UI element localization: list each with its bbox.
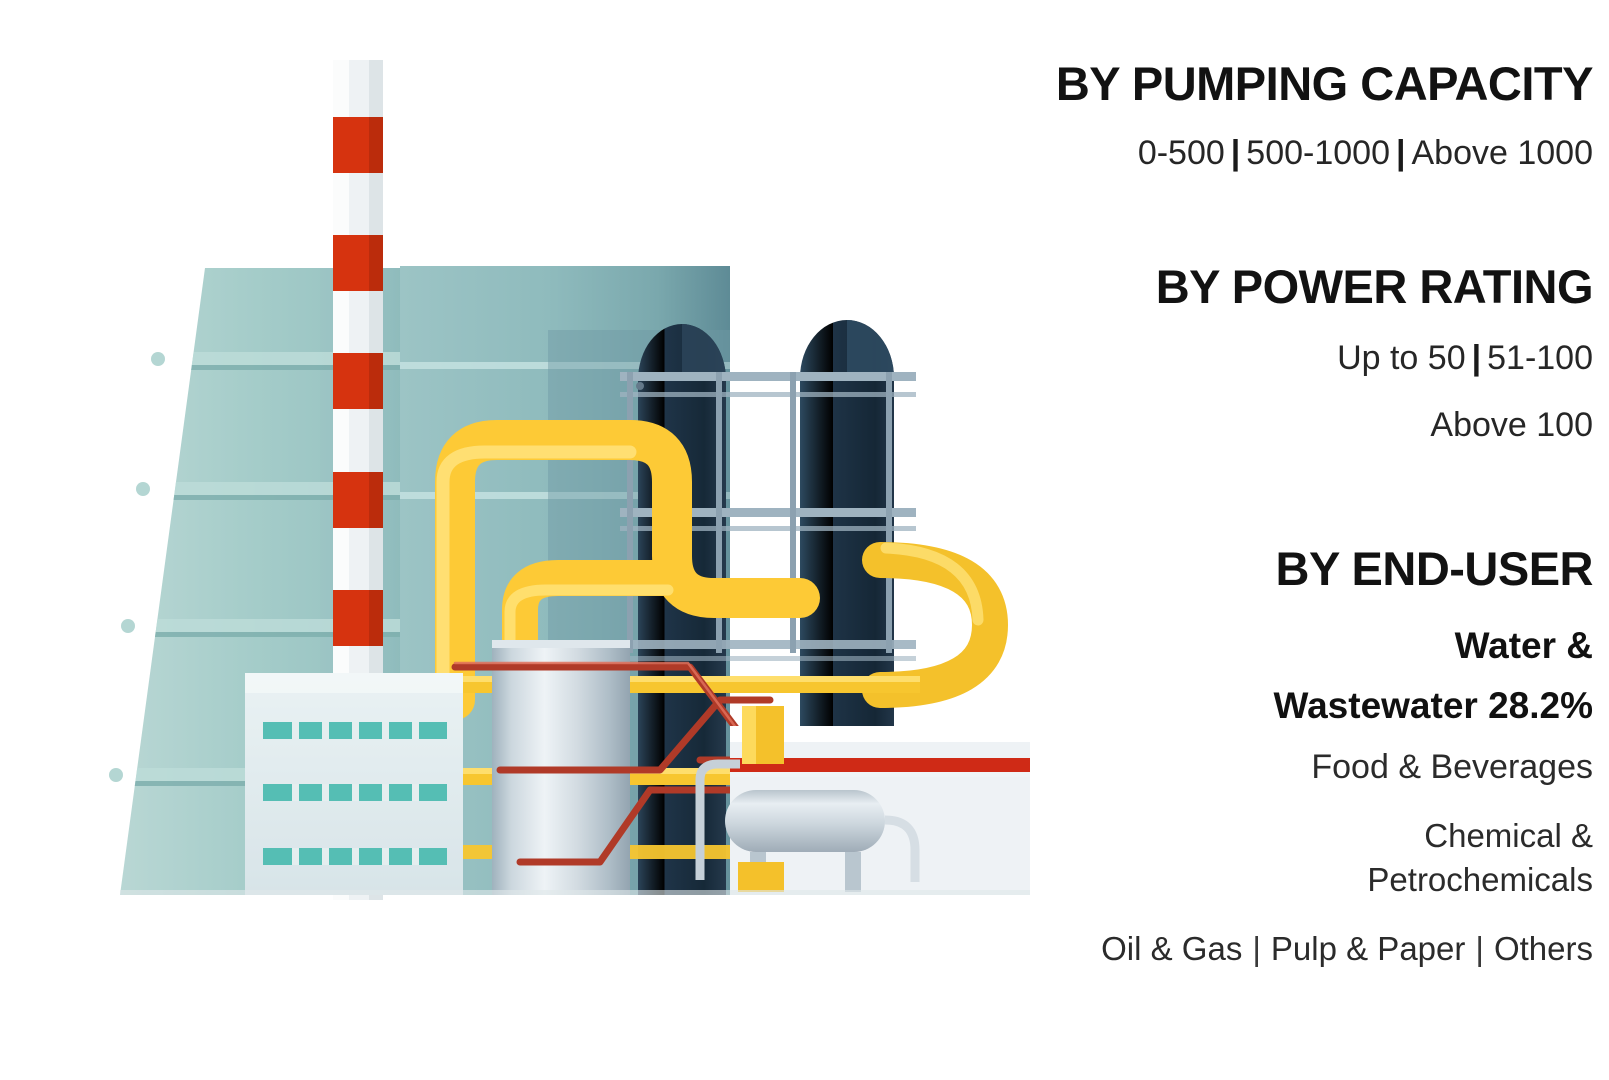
end-user-pulp-paper-label: Pulp & Paper <box>1271 930 1465 967</box>
pumping-capacity-items: 0-500|500-1000|Above 1000 <box>1138 133 1593 173</box>
end-user-chemical-label: Chemical & <box>1424 818 1593 854</box>
end-user-item-chemical-line1: Chemical & <box>1424 818 1593 854</box>
end-user-items-bottom-row: Oil & Gas|Pulp & Paper|Others <box>1101 930 1593 968</box>
pumping-item-500-1000: 500-1000 <box>1246 134 1390 172</box>
section-title-power-rating: BY POWER RATING <box>1156 263 1593 310</box>
industrial-plant-illustration <box>0 0 1050 1080</box>
end-user-water-label: Water & <box>1455 625 1593 666</box>
section-title-end-user: BY END-USER <box>1276 545 1593 592</box>
separator-icon: | <box>1465 930 1494 967</box>
end-user-oil-gas-label: Oil & Gas <box>1101 930 1242 967</box>
power-item-above-100: Above 100 <box>1430 406 1593 444</box>
end-user-food-beverages-label: Food & Beverages <box>1311 748 1593 786</box>
separator-icon: | <box>1466 339 1488 377</box>
end-user-wastewater-value: Wastewater 28.2% <box>1274 685 1593 726</box>
pumping-item-above-1000: Above 1000 <box>1412 134 1594 172</box>
office-building <box>245 673 463 895</box>
pumping-capacity-heading: BY PUMPING CAPACITY <box>1056 60 1593 107</box>
power-rating-items-row1: Up to 50|51-100 <box>1337 338 1593 378</box>
end-user-item-food-beverages: Food & Beverages <box>1311 748 1593 786</box>
end-user-item-water-wastewater-line2: Wastewater 28.2% <box>1274 685 1593 726</box>
power-rating-items-row2: Above 100 <box>1430 405 1593 445</box>
end-user-petrochemicals-label: Petrochemicals <box>1367 862 1593 898</box>
separator-icon: | <box>1390 134 1412 172</box>
power-item-51-100: 51-100 <box>1487 339 1593 377</box>
end-user-others-label: Others <box>1494 930 1593 967</box>
end-user-heading: BY END-USER <box>1276 545 1593 592</box>
separator-icon: | <box>1242 930 1271 967</box>
infographic-canvas: BY PUMPING CAPACITY 0-500|500-1000|Above… <box>0 0 1609 1080</box>
power-rating-heading: BY POWER RATING <box>1156 263 1593 310</box>
end-user-item-water-wastewater-line1: Water & <box>1455 625 1593 666</box>
separator-icon: | <box>1225 134 1247 172</box>
power-item-up-to-50: Up to 50 <box>1337 339 1466 377</box>
section-title-pumping-capacity: BY PUMPING CAPACITY <box>1056 60 1593 107</box>
segmentation-text-column: BY PUMPING CAPACITY 0-500|500-1000|Above… <box>969 0 1609 1080</box>
pumping-item-0-500: 0-500 <box>1138 134 1225 172</box>
end-user-item-chemical-line2: Petrochemicals <box>1367 862 1593 898</box>
